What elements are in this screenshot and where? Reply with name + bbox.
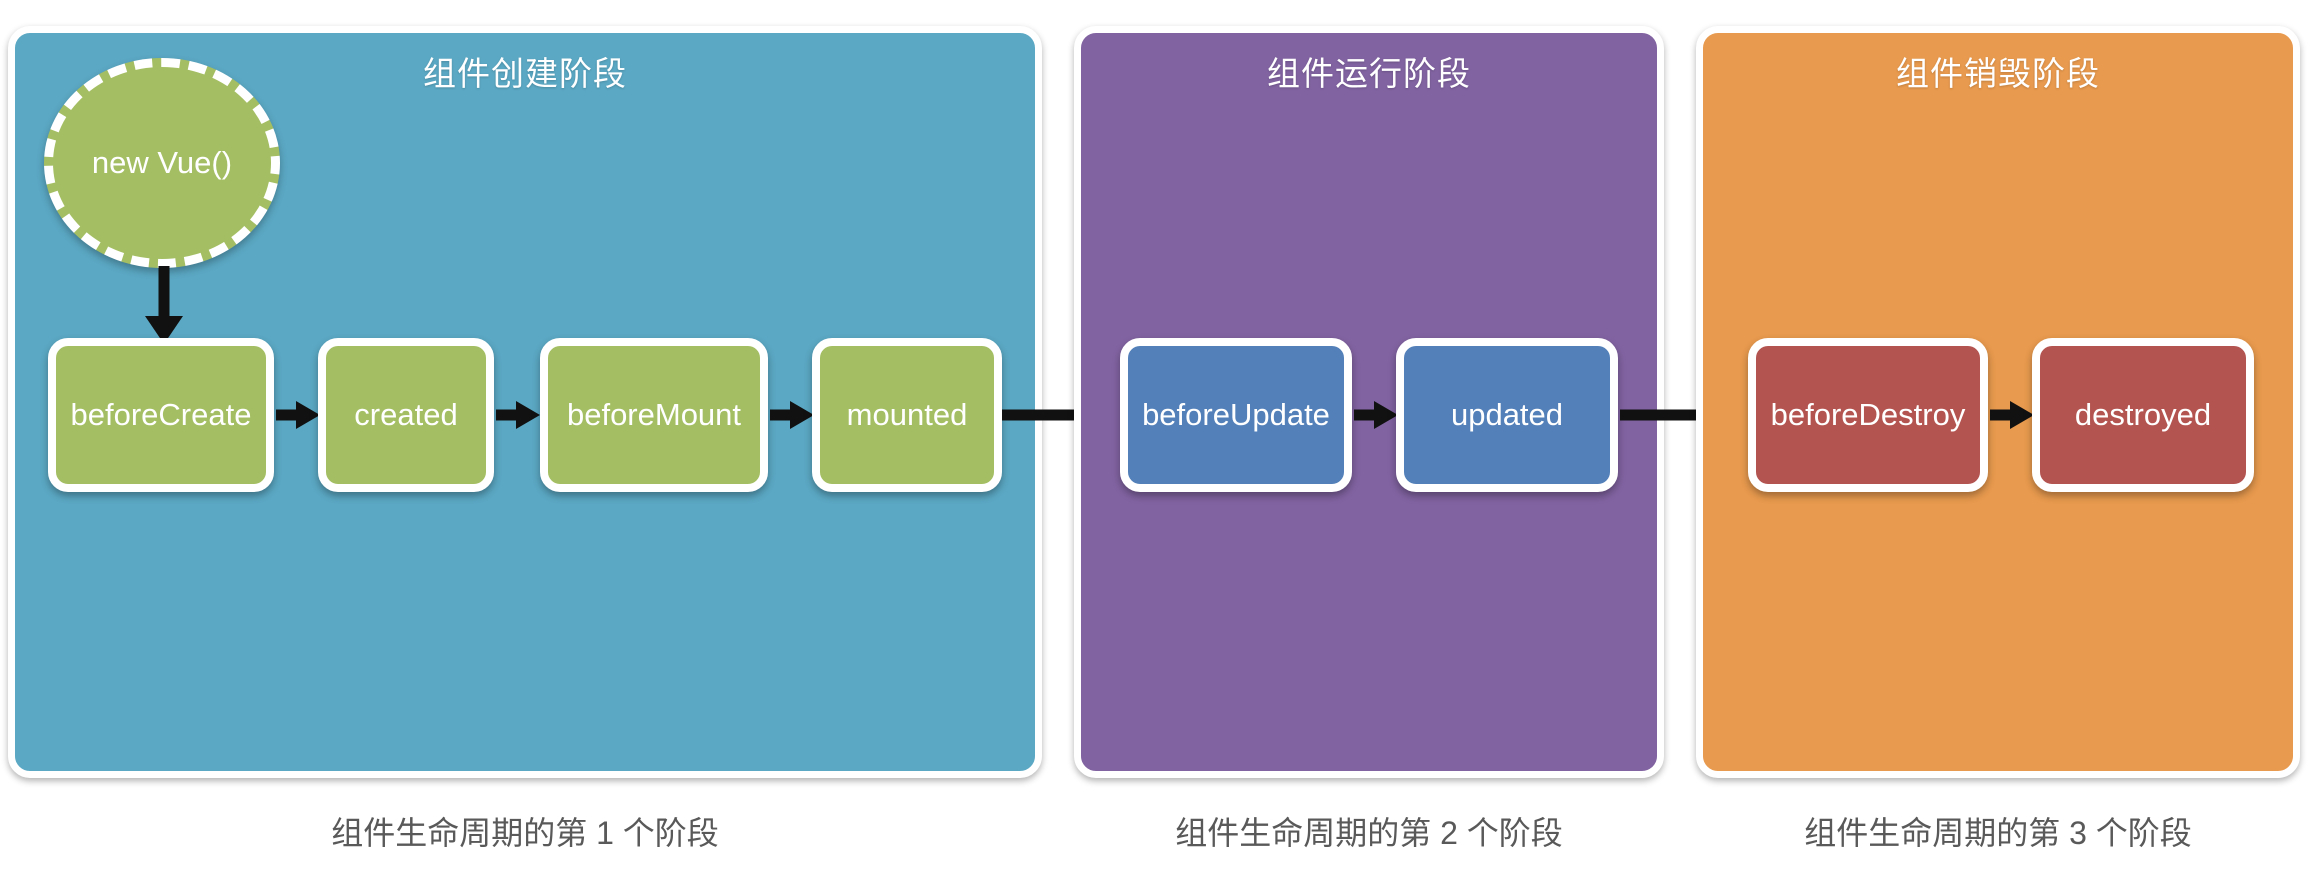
- caption-phase-3: 组件生命周期的第 3 个阶段: [1696, 808, 2300, 854]
- lifecycle-diagram: 组件创建阶段 new Vue() beforeCreate created be…: [0, 0, 2308, 874]
- hook-destroyed: destroyed: [2032, 338, 2254, 492]
- hook-beforemount: beforeMount: [540, 338, 768, 492]
- hook-label-beforemount: beforeMount: [567, 397, 741, 433]
- node-label-new-vue: new Vue(): [92, 145, 232, 181]
- hook-label-beforedestroy: beforeDestroy: [1771, 397, 1966, 433]
- phase-title-destroy: 组件销毁阶段: [1703, 47, 2293, 95]
- caption-phase-1: 组件生命周期的第 1 个阶段: [8, 808, 1042, 854]
- hook-beforecreate: beforeCreate: [48, 338, 274, 492]
- hook-label-destroyed: destroyed: [2075, 397, 2211, 433]
- hook-mounted: mounted: [812, 338, 1002, 492]
- hook-label-mounted: mounted: [847, 397, 968, 433]
- hook-label-beforeupdate: beforeUpdate: [1142, 397, 1330, 433]
- hook-label-created: created: [354, 397, 457, 433]
- node-new-vue: new Vue(): [44, 58, 280, 268]
- hook-beforedestroy: beforeDestroy: [1748, 338, 1988, 492]
- caption-phase-2: 组件生命周期的第 2 个阶段: [1074, 808, 1664, 854]
- hook-label-beforecreate: beforeCreate: [71, 397, 252, 433]
- phase-title-run: 组件运行阶段: [1081, 47, 1657, 95]
- hook-updated: updated: [1396, 338, 1618, 492]
- hook-label-updated: updated: [1451, 397, 1563, 433]
- hook-created: created: [318, 338, 494, 492]
- hook-beforeupdate: beforeUpdate: [1120, 338, 1352, 492]
